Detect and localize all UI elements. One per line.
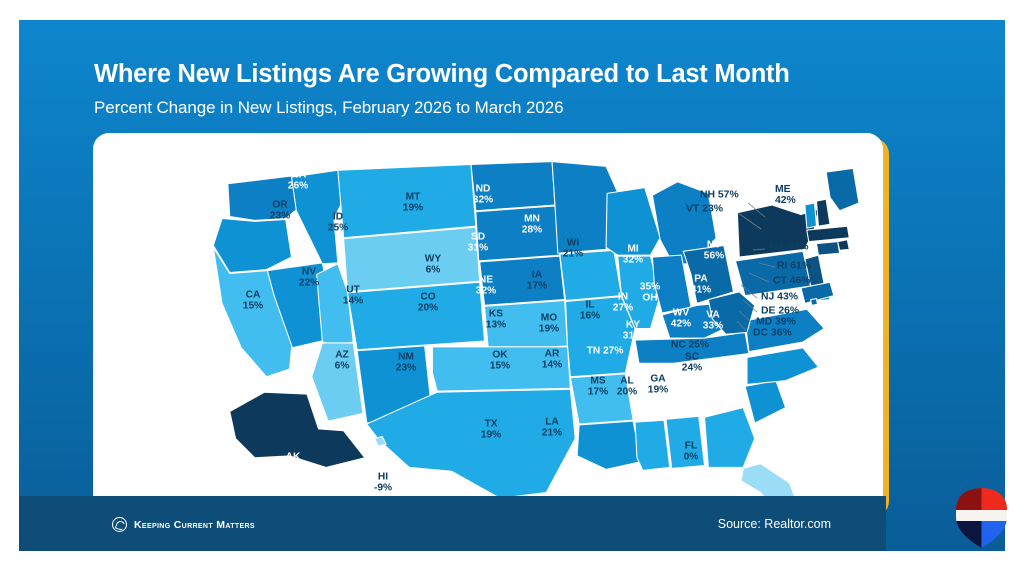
source-credit: Source: Realtor.com: [718, 517, 831, 531]
map-label-line: NJ 43%: [761, 292, 798, 303]
map-label-ct: CT 46%: [773, 276, 811, 287]
state-mo[interactable]: [566, 297, 635, 377]
state-nh[interactable]: [816, 199, 830, 226]
state-vt[interactable]: [805, 203, 817, 228]
state-wy[interactable]: [344, 227, 480, 292]
state-ia[interactable]: [560, 250, 622, 300]
map-label-line: CT 46%: [773, 276, 811, 287]
state-nc[interactable]: [747, 348, 818, 385]
map-label-md: MD 39%: [756, 317, 796, 328]
map-label-vt: VT 23%: [686, 204, 723, 215]
state-sd[interactable]: [476, 206, 560, 261]
state-ct[interactable]: [816, 242, 839, 256]
map-label-line: DE 26%: [761, 306, 799, 317]
map-label-line: RI 61%: [777, 261, 811, 272]
state-az[interactable]: [312, 343, 363, 421]
page-title: Where New Listings Are Growing Compared …: [94, 60, 954, 89]
brand-lockup: Keeping Current Matters: [112, 517, 255, 532]
brand-name: Keeping Current Matters: [134, 519, 255, 531]
map-label-line: MA 82%: [769, 242, 808, 253]
footer-bar: Keeping Current Matters Source: Realtor.…: [19, 496, 886, 551]
map-label-nj: NJ 43%: [761, 292, 798, 303]
header: Where New Listings Are Growing Compared …: [94, 60, 954, 118]
page-subtitle: Percent Change in New Listings, February…: [94, 98, 954, 118]
map-label-line: DC 36%: [753, 328, 792, 339]
state-ar[interactable]: [570, 374, 633, 424]
map-label-line: MD 39%: [756, 317, 796, 328]
state-or[interactable]: [213, 218, 291, 272]
map-label-ma: MA 82%: [769, 242, 808, 253]
map-label-me: ME42%: [775, 184, 796, 206]
state-ga[interactable]: [705, 408, 755, 468]
shield-badge-icon: [955, 487, 1008, 549]
state-me[interactable]: [826, 168, 859, 210]
state-pa[interactable]: [735, 251, 810, 295]
state-ne[interactable]: [480, 256, 565, 305]
state-wa[interactable]: [228, 176, 297, 220]
state-sc[interactable]: [745, 381, 786, 423]
state-nd[interactable]: [471, 162, 555, 211]
map-label-line: VT 23%: [686, 204, 723, 215]
state-wi[interactable]: [606, 188, 660, 256]
map-card: WA26%OR23%CA15%NV22%ID25%MT19%WY6%UT14%C…: [93, 133, 883, 512]
map-label-nh: NH 57%: [700, 190, 739, 201]
map-label-line: 42%: [775, 195, 796, 206]
state-ms[interactable]: [635, 420, 670, 470]
state-co[interactable]: [347, 282, 484, 350]
state-al[interactable]: [666, 416, 705, 468]
state-la[interactable]: [577, 421, 641, 469]
map-label-dc: DC 36%: [753, 328, 792, 339]
state-dc[interactable]: [811, 299, 818, 306]
state-ks[interactable]: [485, 301, 568, 351]
kcm-swirl-icon: [112, 517, 127, 532]
map-label-line: NH 57%: [700, 190, 739, 201]
state-id[interactable]: [292, 170, 344, 264]
map-label-line: ME: [775, 184, 796, 195]
state-ri[interactable]: [838, 240, 850, 251]
slide-canvas: Where New Listings Are Growing Compared …: [19, 20, 1005, 551]
state-ok[interactable]: [432, 347, 570, 391]
state-mt[interactable]: [338, 164, 476, 237]
map-label-de: DE 26%: [761, 306, 799, 317]
map-label-ri: RI 61%: [777, 261, 811, 272]
